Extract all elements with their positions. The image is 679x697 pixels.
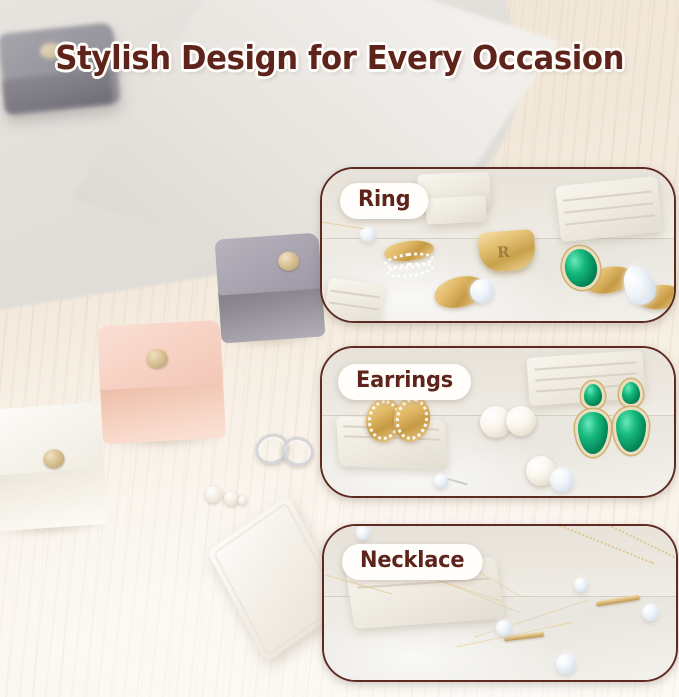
gold-signet-ring: R xyxy=(478,229,537,273)
label-badge-earrings[interactable]: Earrings xyxy=(338,364,471,400)
tray-seam xyxy=(329,302,378,311)
pouch-flap xyxy=(214,232,322,295)
emerald-drop-bottom xyxy=(578,412,608,454)
banner-title-container: Stylish Design for Every Occasion xyxy=(0,38,679,77)
tray-seam xyxy=(564,202,653,213)
diamond-pendant xyxy=(556,654,576,674)
pink-jewelry-pouch xyxy=(97,320,226,444)
product-banner-image: Stylish Design for Every Occasion xyxy=(0,0,679,697)
tray-seam xyxy=(535,372,637,381)
inset-panel-earrings: Earrings xyxy=(320,346,676,498)
inset-panel-necklace: Necklace xyxy=(322,524,678,682)
stacked-velvet-trays xyxy=(555,176,662,242)
page-title: Stylish Design for Every Occasion xyxy=(55,38,624,77)
tray-seam xyxy=(331,290,380,299)
diamond-pendant xyxy=(356,526,370,540)
diamond-pendant xyxy=(642,604,659,621)
diamond-stud-earring xyxy=(434,474,448,488)
pearl-stud-earring xyxy=(506,406,536,436)
emerald-drop-bottom xyxy=(616,410,646,452)
diamond-pendant xyxy=(574,578,588,592)
velvet-block xyxy=(425,195,486,224)
loose-diamond xyxy=(360,227,376,242)
tray-seam xyxy=(563,190,652,201)
tray-seam xyxy=(565,214,654,225)
label-badge-ring[interactable]: Ring xyxy=(340,183,428,219)
white-jewelry-pouch xyxy=(0,402,108,532)
label-badge-necklace[interactable]: Necklace xyxy=(342,544,482,580)
loose-pearl xyxy=(238,496,247,505)
inset-panel-ring: R Ring xyxy=(320,167,676,323)
emerald-drop-top xyxy=(622,382,640,404)
tray-seam xyxy=(534,361,636,370)
emerald-drop-top xyxy=(584,384,602,406)
diamond-stud-earring xyxy=(550,468,574,492)
diamond-pendant xyxy=(496,620,512,636)
signet-letter-R: R xyxy=(496,243,510,262)
grey-jewelry-pouch xyxy=(214,232,325,343)
velvet-block-left xyxy=(323,277,385,323)
loose-pearl xyxy=(205,486,222,503)
solitaire-diamond xyxy=(470,279,494,303)
loose-pearl xyxy=(224,491,239,506)
